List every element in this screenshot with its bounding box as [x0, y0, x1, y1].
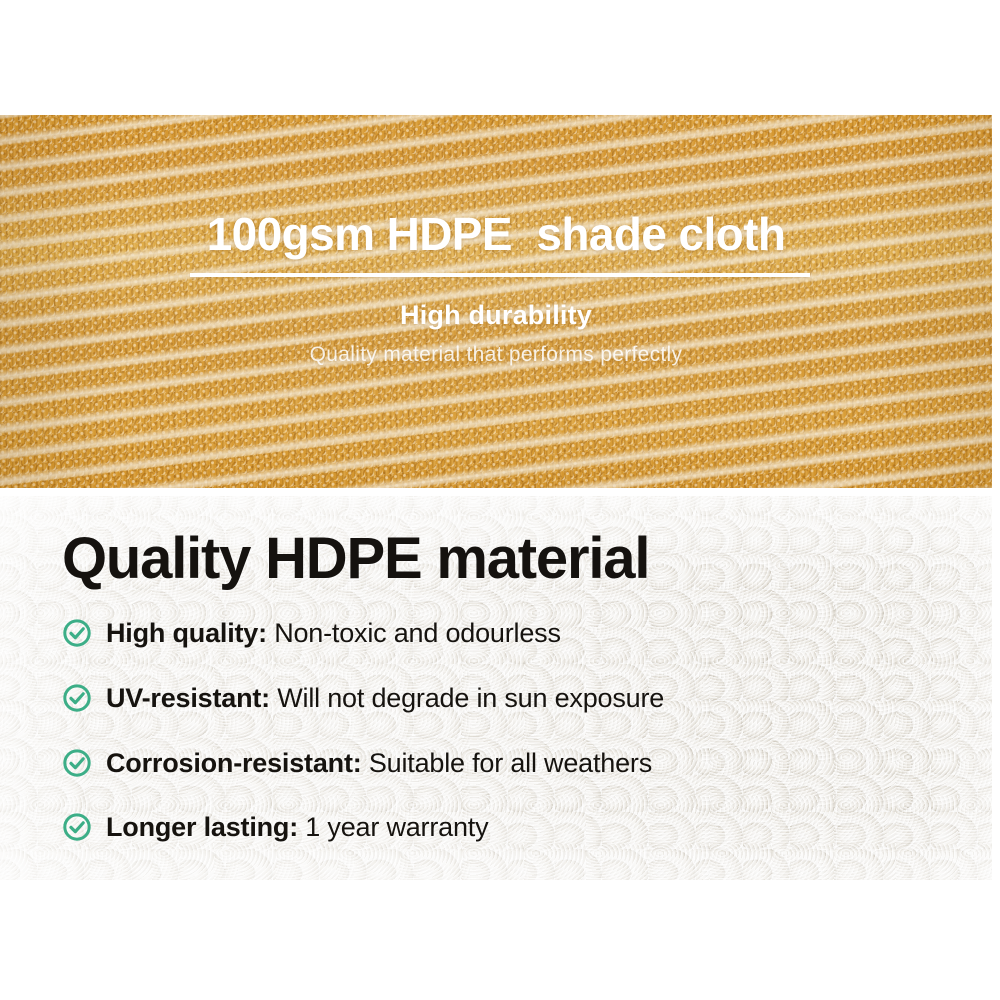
feature-rest: Will not degrade in sun exposure	[270, 683, 664, 713]
banner-tagline: Quality material that performs perfectly	[0, 343, 992, 367]
frame-edge-top	[0, 0, 1000, 115]
frame-edge-right	[992, 0, 1000, 1000]
feature-lead: High quality:	[106, 618, 267, 648]
feature-item: Longer lasting: 1 year warranty	[62, 807, 488, 847]
product-feature-image: 100gsm HDPE shade cloth High durability …	[0, 0, 1000, 1000]
feature-text: Longer lasting: 1 year warranty	[106, 812, 488, 843]
frame-edge-middle	[0, 488, 1000, 496]
banner-subtitle: High durability	[0, 300, 992, 331]
material-heading: Quality HDPE material	[62, 530, 649, 588]
feature-text: High quality: Non-toxic and odourless	[106, 618, 561, 649]
check-circle-icon	[62, 683, 92, 713]
feature-lead: Longer lasting:	[106, 812, 298, 842]
banner-text-block: 100gsm HDPE shade cloth High durability …	[0, 115, 992, 488]
feature-text: UV-resistant: Will not degrade in sun ex…	[106, 683, 664, 714]
feature-lead: Corrosion-resistant:	[106, 748, 362, 778]
check-circle-icon	[62, 618, 92, 648]
feature-item: Corrosion-resistant: Suitable for all we…	[62, 743, 652, 783]
feature-rest: Non-toxic and odourless	[267, 618, 561, 648]
feature-lead: UV-resistant:	[106, 683, 270, 713]
feature-rest: 1 year warranty	[298, 812, 488, 842]
check-circle-icon	[62, 812, 92, 842]
material-copy-block: Quality HDPE material High quality: Non-…	[0, 496, 992, 880]
check-circle-icon	[62, 748, 92, 778]
banner-divider-rule	[190, 273, 810, 277]
banner-title: 100gsm HDPE shade cloth	[0, 207, 992, 261]
feature-text: Corrosion-resistant: Suitable for all we…	[106, 748, 652, 779]
feature-item: UV-resistant: Will not degrade in sun ex…	[62, 678, 664, 718]
frame-edge-bottom	[0, 880, 1000, 1000]
feature-item: High quality: Non-toxic and odourless	[62, 613, 561, 653]
feature-rest: Suitable for all weathers	[362, 748, 652, 778]
